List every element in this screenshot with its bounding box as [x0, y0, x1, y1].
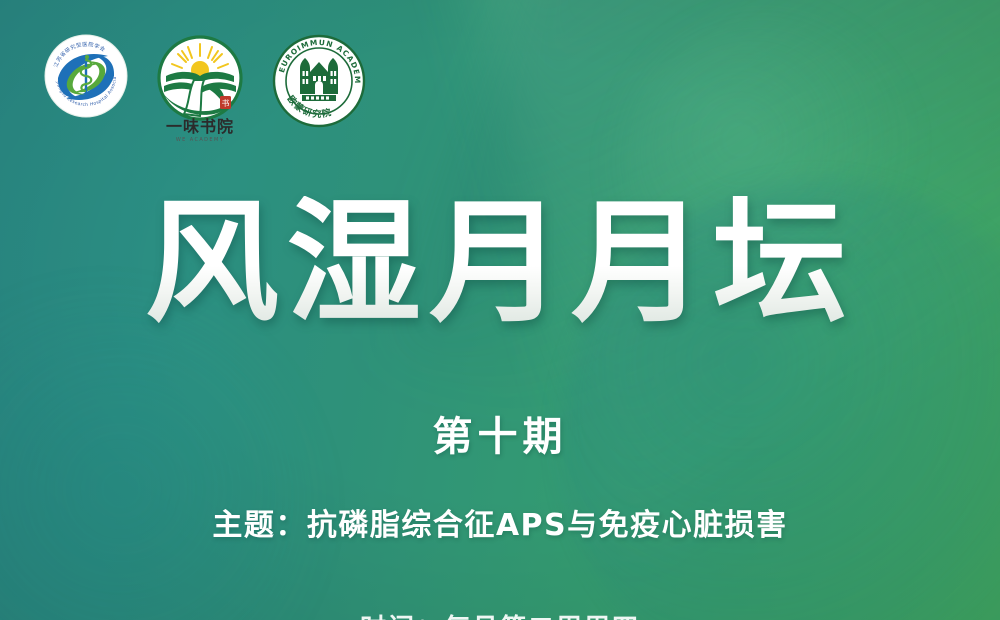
svg-text:WE ACADEMY: WE ACADEMY [176, 137, 224, 143]
euroimmun-academy-icon: EUROIMMUN ACADEMY 欧蒙研究院 [272, 34, 366, 128]
svg-text:书: 书 [222, 98, 230, 108]
logo-yiwei-academy: 书 一味书院 WE ACADEMY [154, 34, 246, 144]
logo-euroimmun-academy: EUROIMMUN ACADEMY 欧蒙研究院 [272, 34, 366, 128]
poster-canvas: 江苏省研究型医院学会 Jiangsu Research Hospital Ass… [0, 0, 1000, 620]
cutoff-bottom-line: 时间：每月第二周周四 [0, 608, 1000, 620]
jiangsu-association-icon: 江苏省研究型医院学会 Jiangsu Research Hospital Ass… [44, 34, 128, 118]
issue-number: 第十期 [0, 404, 1000, 462]
svg-text:一味书院: 一味书院 [166, 117, 234, 136]
page-title: 风湿月月坛 [0, 196, 1000, 330]
yiwei-academy-icon: 书 一味书院 WE ACADEMY [154, 34, 246, 144]
topic-line: 主题：抗磷脂综合征APS与免疫心脏损害 [0, 500, 1000, 544]
logo-jiangsu-research-hospital-association: 江苏省研究型医院学会 Jiangsu Research Hospital Ass… [44, 34, 128, 118]
logo-row: 江苏省研究型医院学会 Jiangsu Research Hospital Ass… [44, 34, 366, 144]
